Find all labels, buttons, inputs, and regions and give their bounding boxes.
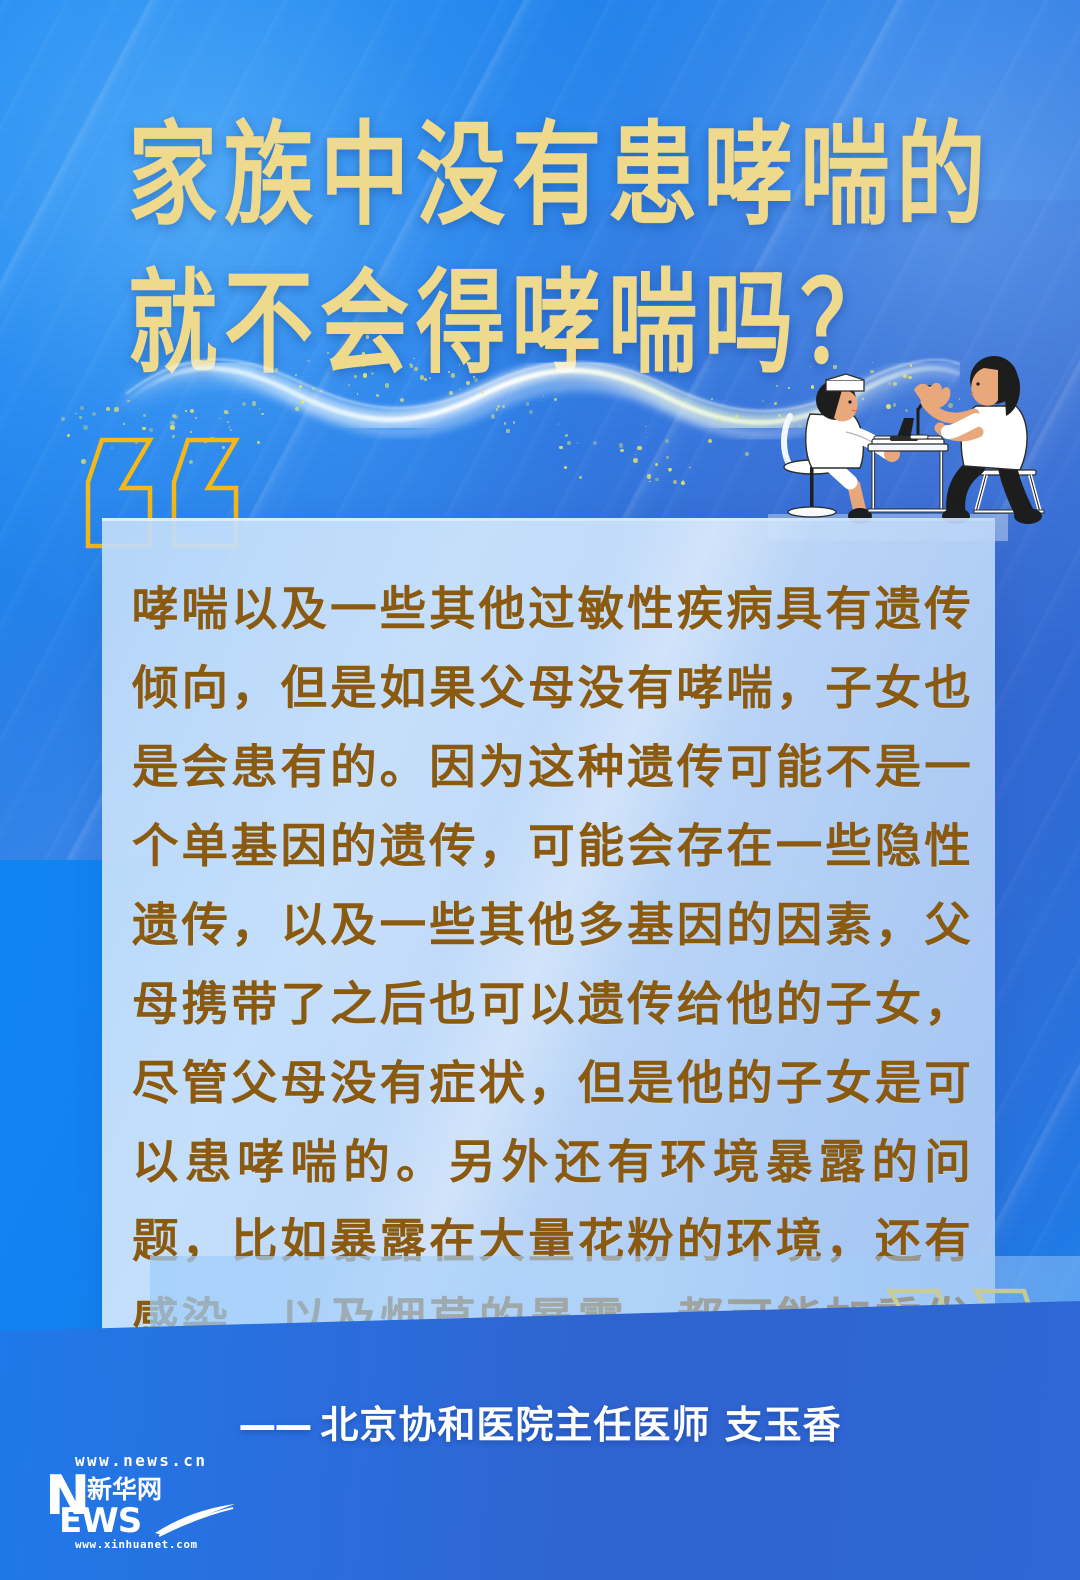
attribution-dash: ——	[238, 1403, 310, 1447]
quote-card: 哮喘以及一些其他过敏性疾病具有遗传倾向，但是如果父母没有哮喘，子女也是会患有的。…	[102, 518, 995, 1366]
attribution-source: 北京协和医院主任医师 支玉香	[320, 1403, 841, 1447]
title-line-1: 家族中没有患哮喘的	[128, 104, 982, 248]
logo-url-top: www.news.cn	[75, 1452, 250, 1470]
doctor-consultation-illustration	[768, 336, 1068, 541]
logo-mark: N 新华网 EWS	[45, 1471, 250, 1537]
logo-swoosh-icon	[153, 1503, 237, 1537]
page-title: 家族中没有患哮喘的 就不会得哮喘吗？	[128, 104, 1008, 370]
logo-wordmark: EWS	[59, 1504, 141, 1538]
attribution: ——北京协和医院主任医师 支玉香	[0, 1394, 1080, 1449]
xinhua-logo[interactable]: www.news.cn N 新华网 EWS www.xinhuanet.com	[45, 1452, 250, 1560]
logo-brand-cn: 新华网	[87, 1476, 162, 1503]
poster-root: 家族中没有患哮喘的 就不会得哮喘吗？	[0, 0, 1080, 1580]
